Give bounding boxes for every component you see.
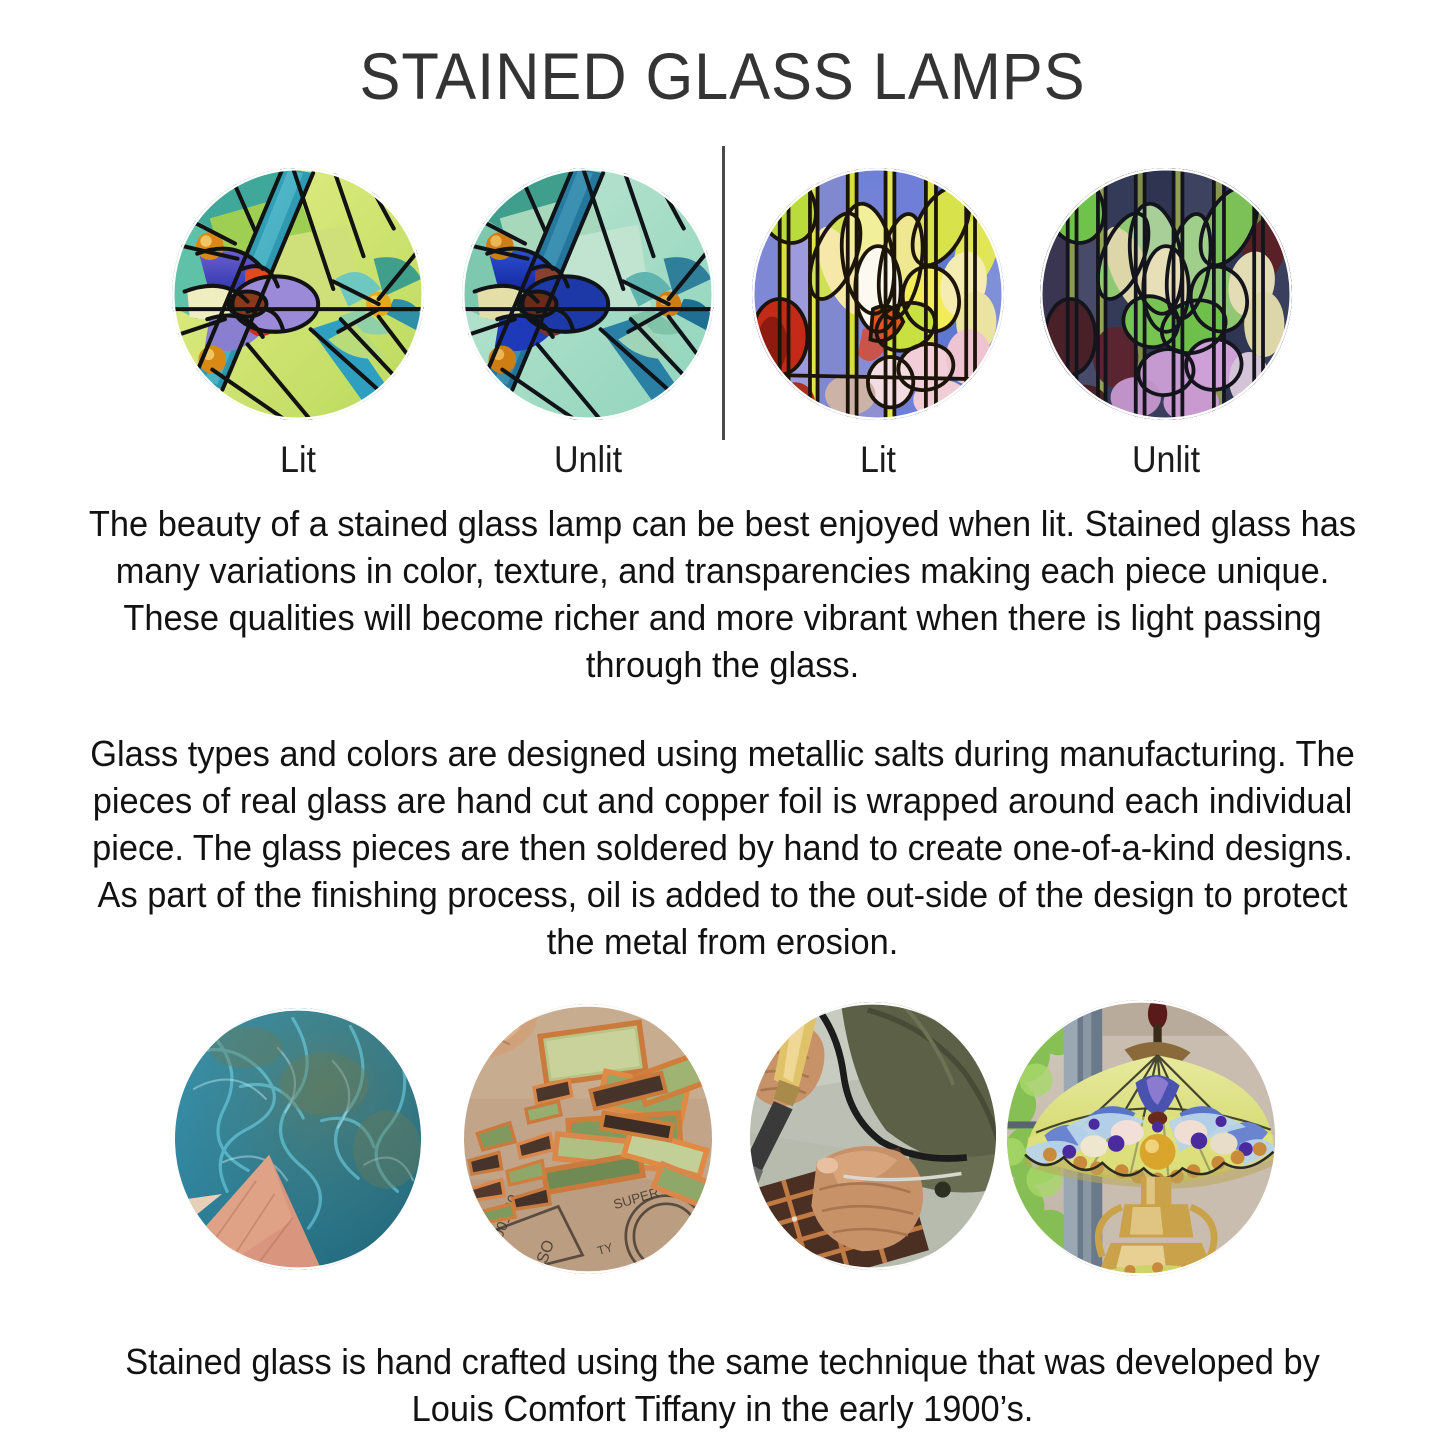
label-lit-1: Lit [182, 438, 414, 482]
comparison-label-row: Lit Unlit Lit Unlit [0, 438, 1445, 482]
copper-foiled-glass-pieces-image: SUPER QU TY 9001:20 ISO an OR [464, 1004, 712, 1274]
infographic-page: STAINED GLASS LAMPS [0, 0, 1445, 1445]
label-unlit-1: Unlit [472, 438, 704, 482]
body-paragraph-2: Glass types and colors are designed usin… [82, 730, 1363, 965]
process-image-row: SUPER QU TY 9001:20 ISO an OR [0, 1000, 1445, 1282]
finished-tiffany-lamp-image [1007, 1000, 1275, 1276]
vertical-divider [722, 146, 725, 440]
blue-art-glass-sheet-image [175, 1008, 421, 1270]
body-paragraph-1: The beauty of a stained glass lamp can b… [82, 500, 1363, 688]
stained-glass-detail-lit-2-image [752, 168, 1004, 420]
stained-glass-detail-unlit-2-image [1040, 168, 1292, 420]
page-title: STAINED GLASS LAMPS [51, 40, 1395, 112]
stained-glass-detail-unlit-1-image [462, 168, 714, 420]
label-lit-2: Lit [762, 438, 994, 482]
footer-text: Stained glass is hand crafted using the … [82, 1338, 1363, 1432]
stained-glass-detail-lit-1-image [172, 168, 424, 420]
label-unlit-2: Unlit [1050, 438, 1282, 482]
soldering-by-hand-image [750, 1002, 996, 1270]
